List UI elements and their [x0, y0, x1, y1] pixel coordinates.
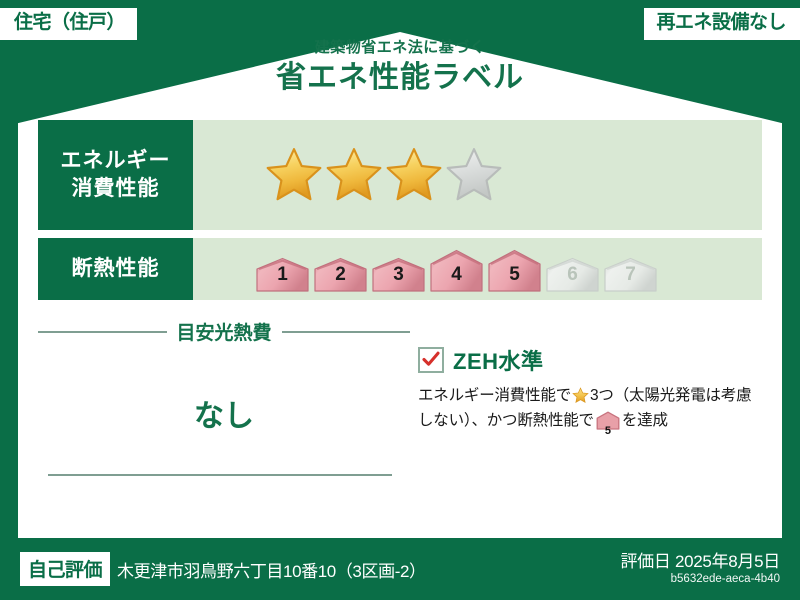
energy-label-line1: エネルギー	[61, 147, 171, 175]
building-type-badge: 住宅（住戸）	[0, 8, 137, 40]
renewable-energy-badge: 再エネ設備なし	[644, 8, 800, 40]
property-address: 木更津市羽鳥野六丁目10番10（3区画-2）	[117, 557, 426, 582]
zeh-desc-part4: を達成	[622, 412, 668, 429]
utility-cost-title: 目安光熱費	[167, 318, 282, 345]
utility-cost-footer-rule	[48, 474, 392, 476]
footer-right: 評価日 2025年8月5日 b5632ede-aeca-4b40	[620, 551, 800, 587]
insulation-performance-row: 断熱性能 1234567	[38, 238, 762, 300]
document-id: b5632ede-aeca-4b40	[620, 572, 780, 586]
energy-consumption-label: エネルギー 消費性能	[38, 120, 193, 230]
self-evaluation-badge: 自己評価	[20, 552, 110, 586]
insulation-label-text: 断熱性能	[72, 255, 160, 283]
insulation-scale: 1234567	[255, 245, 661, 293]
star-icon-filled	[265, 146, 323, 204]
page-title: 省エネ性能ラベル	[0, 61, 800, 96]
zeh-checkbox[interactable]	[418, 347, 444, 373]
insulation-level-3: 3	[371, 257, 426, 293]
label-content: エネルギー 消費性能 断熱性能 1234567 目安光熱費 なし	[18, 120, 782, 538]
title-subtitle: 建築物省エネ法に基づく	[0, 40, 800, 57]
house-icon	[545, 257, 600, 293]
utility-cost-panel: 目安光熱費 なし	[38, 314, 410, 504]
zeh-desc-part1: エネルギー消費性能で	[418, 387, 571, 404]
insulation-performance-label: 断熱性能	[38, 238, 193, 300]
zeh-description: エネルギー消費性能で3つ（太陽光発電は考慮しない）、かつ断熱性能で5を達成	[418, 383, 762, 438]
house-icon	[429, 249, 484, 293]
star-icon-inline	[572, 387, 589, 404]
energy-performance-label: 住宅（住戸） 再エネ設備なし 建築物省エネ法に基づく 省エネ性能ラベル エネルギ…	[0, 0, 800, 600]
lower-section: 目安光熱費 なし ZEH水準 エネルギー消費性能で3つ（太陽光発電は考慮しな	[38, 314, 762, 504]
insulation-level-7: 7	[603, 257, 658, 293]
energy-label-line2: 消費性能	[72, 175, 160, 203]
house-icon	[603, 257, 658, 293]
rule-left	[38, 331, 167, 333]
zeh-title: ZEH水準	[453, 344, 544, 376]
insulation-level-5: 5	[487, 249, 542, 293]
insulation-level-4: 4	[429, 249, 484, 293]
zeh-panel: ZEH水準 エネルギー消費性能で3つ（太陽光発電は考慮しない）、かつ断熱性能で5…	[410, 314, 762, 504]
insulation-scale-wrap: 1234567	[193, 238, 762, 300]
house-icon	[255, 257, 310, 293]
footer: 自己評価 木更津市羽鳥野六丁目10番10（3区画-2） 評価日 2025年8月5…	[0, 538, 800, 600]
insulation-level-2: 2	[313, 257, 368, 293]
utility-cost-value: なし	[38, 391, 410, 435]
star-icon-filled	[325, 146, 383, 204]
evaluation-date: 評価日 2025年8月5日	[620, 551, 780, 572]
footer-left: 自己評価 木更津市羽鳥野六丁目10番10（3区画-2）	[0, 552, 620, 586]
insulation-level-chip-inline-num: 5	[596, 426, 620, 437]
rule-right	[282, 331, 411, 333]
house-icon	[313, 257, 368, 293]
star-icon-filled	[385, 146, 443, 204]
check-icon	[421, 349, 441, 369]
house-icon	[371, 257, 426, 293]
title-block: 建築物省エネ法に基づく 省エネ性能ラベル	[0, 40, 800, 95]
star-icon-empty	[445, 146, 503, 204]
star-rating	[193, 120, 762, 230]
zeh-header: ZEH水準	[418, 344, 762, 376]
insulation-level-6: 6	[545, 257, 600, 293]
insulation-level-chip-inline: 5	[596, 411, 620, 438]
house-icon	[487, 249, 542, 293]
utility-cost-header: 目安光熱費	[38, 314, 410, 345]
energy-consumption-row: エネルギー 消費性能	[38, 120, 762, 230]
zeh-desc-part2: 3つ（太陽光発電	[590, 387, 706, 404]
insulation-level-1: 1	[255, 257, 310, 293]
